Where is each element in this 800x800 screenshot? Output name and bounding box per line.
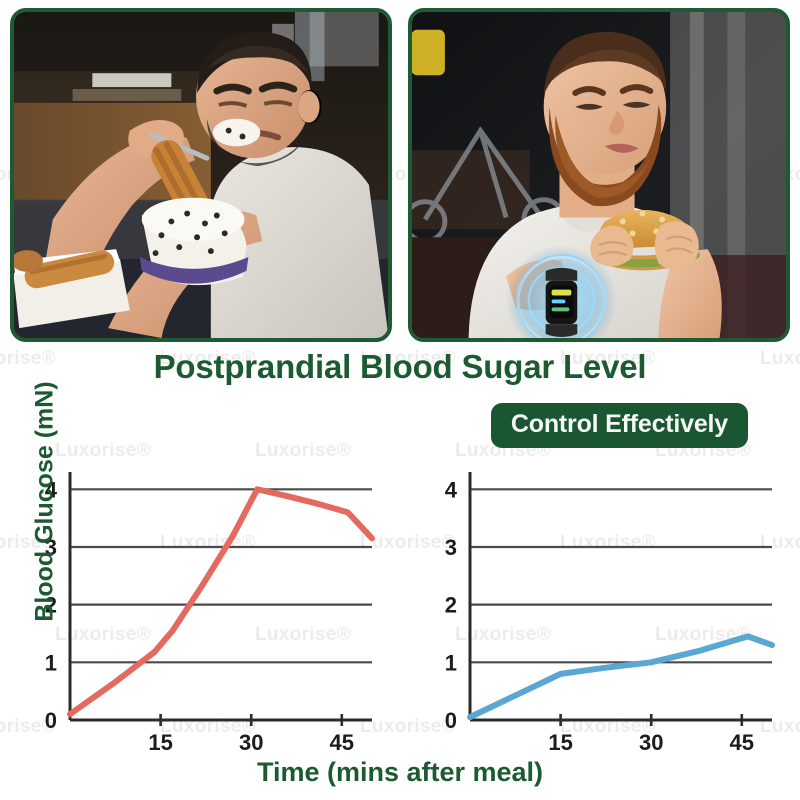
x-tick-label: 45 (330, 730, 354, 755)
x-tick-label: 30 (639, 730, 663, 755)
x-axis-title-text: Time (mins after meal) (257, 757, 543, 787)
y-tick-label: 0 (45, 708, 57, 733)
photo-bearded-man-eating-burger-wearing-device (408, 8, 790, 342)
y-tick-label: 1 (445, 650, 457, 675)
page-title: Postprandial Blood Sugar Level (0, 348, 800, 386)
status-badge: Control Effectively (491, 403, 748, 448)
y-tick-label: 4 (445, 477, 458, 502)
photo-image-right (412, 12, 786, 338)
y-tick-label: 1 (45, 650, 57, 675)
x-tick-label: 30 (239, 730, 263, 755)
x-tick-label: 15 (548, 730, 572, 755)
photo-man-eating-churros-dessert (10, 8, 392, 342)
photo-left-illustration (14, 12, 388, 338)
series-line-controlled-blood-glucose (470, 636, 772, 717)
x-tick-label: 15 (148, 730, 172, 755)
y-axis-title-text: Blood Glucose (mN) (31, 381, 59, 621)
y-tick-label: 2 (445, 593, 457, 618)
page-title-text: Postprandial Blood Sugar Level (154, 348, 647, 385)
photo-right-illustration (412, 12, 786, 338)
x-axis-title: Time (mins after meal) (0, 757, 800, 788)
control-effectively-badge: Control Effectively (491, 403, 748, 448)
y-tick-label: 3 (445, 535, 457, 560)
y-tick-label: 0 (445, 708, 457, 733)
photo-strip (0, 0, 800, 342)
series-line-uncontrolled-blood-glucose (70, 489, 372, 714)
photo-image-left (14, 12, 388, 338)
y-axis-title: Blood Glucose (mN) (31, 372, 60, 632)
chart-after: 01234153045 (400, 450, 800, 770)
x-tick-label: 45 (730, 730, 754, 755)
chart-before: 01234153045 (0, 450, 400, 770)
charts-panel: 01234153045 01234153045 (0, 450, 800, 800)
